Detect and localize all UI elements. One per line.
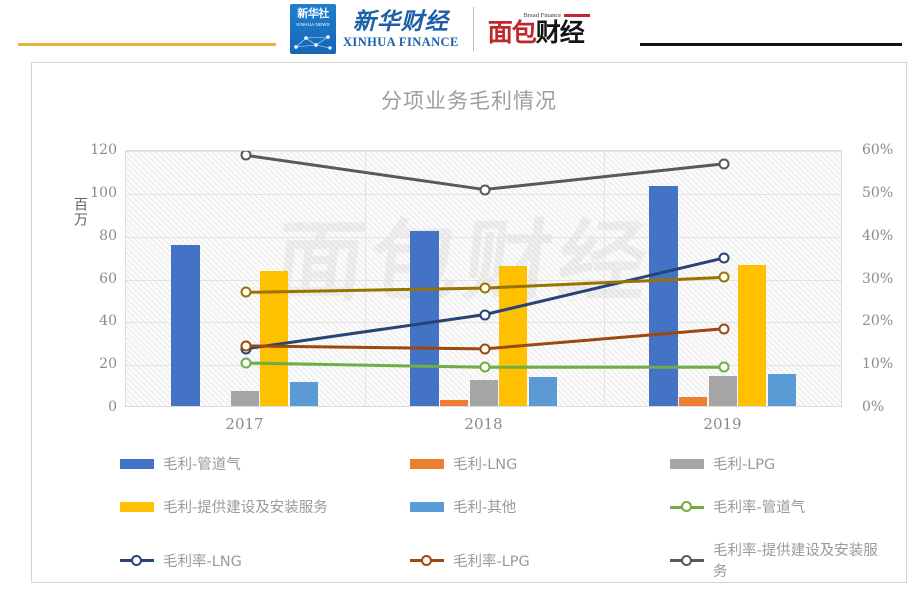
legend-label: 毛利-提供建设及安装服务 <box>163 496 328 517</box>
logo-divider <box>473 7 474 51</box>
marker-毛利率-其他 <box>718 272 729 283</box>
marker-毛利率-管道气 <box>718 362 729 373</box>
legend-color-swatch <box>670 459 704 469</box>
xinhua-finance-cn: 新华财经 <box>353 10 449 33</box>
legend-line-swatch <box>670 501 704 512</box>
xinhua-badge-cn: 新华社 <box>297 9 329 20</box>
y-tick-label: 100 <box>32 185 117 201</box>
screenshot-root: 新华社 XINHUA NEWS 新华财经 XINHUA FINANCE <box>0 0 919 604</box>
y-axis-title: 百万 <box>70 197 90 227</box>
legend-item[interactable]: 毛利-LPG <box>670 453 890 474</box>
legend-label: 毛利-LNG <box>453 453 517 474</box>
marker-毛利率-提供建设及安装服务 <box>718 158 729 169</box>
y2-tick-label: 60% <box>862 142 893 158</box>
legend-item[interactable]: 毛利率-管道气 <box>670 496 890 517</box>
marker-毛利率-LNG <box>718 253 729 264</box>
header-rule-right <box>640 43 902 46</box>
y2-tick-label: 40% <box>862 228 893 244</box>
marker-毛利率-管道气 <box>479 362 490 373</box>
bread-finance-cn-red: 面包 <box>488 18 536 47</box>
plot-area: 面包财经 <box>125 150 842 407</box>
bread-finance-cn-black: 财经 <box>536 18 584 47</box>
legend-color-swatch <box>120 502 154 512</box>
legend-item[interactable]: 毛利-LNG <box>410 453 670 474</box>
marker-毛利率-提供建设及安装服务 <box>479 184 490 195</box>
legend-label: 毛利-其他 <box>453 496 516 517</box>
legend-label: 毛利率-管道气 <box>713 496 805 517</box>
marker-毛利率-LNG <box>479 309 490 320</box>
y-tick-label: 0 <box>32 399 117 415</box>
x-tick-label: 2017 <box>225 415 263 433</box>
network-dots-icon <box>290 33 336 51</box>
bread-finance-logo: Bread Finance 面包财经 <box>488 13 590 46</box>
marker-毛利率-其他 <box>240 287 251 298</box>
legend-item[interactable]: 毛利-提供建设及安装服务 <box>120 496 410 517</box>
y-tick-label: 60 <box>32 271 117 287</box>
x-tick-label: 2019 <box>703 415 741 433</box>
xinhua-badge-en: XINHUA NEWS <box>296 21 330 28</box>
marker-毛利率-LPG <box>479 343 490 354</box>
x-tick-label: 2018 <box>464 415 502 433</box>
y-tick-label: 120 <box>32 142 117 158</box>
legend-item[interactable]: 毛利-管道气 <box>120 453 410 474</box>
y2-tick-label: 30% <box>862 271 893 287</box>
legend-color-swatch <box>120 459 154 469</box>
legend-item[interactable]: 毛利率-提供建设及安装服务 <box>670 539 890 581</box>
marker-毛利率-管道气 <box>240 358 251 369</box>
legend-color-swatch <box>410 459 444 469</box>
xinhua-news-badge-icon: 新华社 XINHUA NEWS <box>290 4 336 54</box>
legend-item[interactable]: 毛利率-LPG <box>410 550 670 571</box>
legend-label: 毛利-管道气 <box>163 453 241 474</box>
y-tick-label: 20 <box>32 356 117 372</box>
marker-毛利率-提供建设及安装服务 <box>240 150 251 161</box>
marker-毛利率-LPG <box>718 323 729 334</box>
marker-毛利率-其他 <box>479 283 490 294</box>
chart-card: 分项业务毛利情况 百万 面包财经 020406080100120 0%10%20… <box>31 62 907 583</box>
y-tick-label: 80 <box>32 228 117 244</box>
legend-item[interactable]: 毛利率-LNG <box>120 550 410 571</box>
chart-legend: 毛利-管道气毛利-LNG毛利-LPG毛利-提供建设及安装服务毛利-其他毛利率-管… <box>120 453 890 604</box>
legend-label: 毛利率-LPG <box>453 550 530 571</box>
xinhua-finance-en: XINHUA FINANCE <box>343 36 459 49</box>
legend-item[interactable]: 毛利-其他 <box>410 496 670 517</box>
bread-finance-cn: 面包财经 <box>488 20 584 46</box>
y2-tick-label: 0% <box>862 399 884 415</box>
legend-color-swatch <box>410 502 444 512</box>
logo-group: 新华社 XINHUA NEWS 新华财经 XINHUA FINANCE <box>290 2 638 56</box>
legend-line-swatch <box>670 555 704 566</box>
legend-label: 毛利-LPG <box>713 453 775 474</box>
legend-label: 毛利率-提供建设及安装服务 <box>713 539 890 581</box>
y2-tick-label: 10% <box>862 356 893 372</box>
xinhua-finance-logo: 新华财经 XINHUA FINANCE <box>343 10 459 49</box>
y2-tick-label: 20% <box>862 313 893 329</box>
chart-title: 分项业务毛利情况 <box>32 85 906 115</box>
y-tick-label: 40 <box>32 313 117 329</box>
marker-毛利率-LPG <box>240 340 251 351</box>
legend-label: 毛利率-LNG <box>163 550 242 571</box>
y2-tick-label: 50% <box>862 185 893 201</box>
legend-line-swatch <box>120 555 154 566</box>
brand-header: 新华社 XINHUA NEWS 新华财经 XINHUA FINANCE <box>0 0 919 58</box>
legend-line-swatch <box>410 555 444 566</box>
header-rule-left <box>18 43 276 46</box>
